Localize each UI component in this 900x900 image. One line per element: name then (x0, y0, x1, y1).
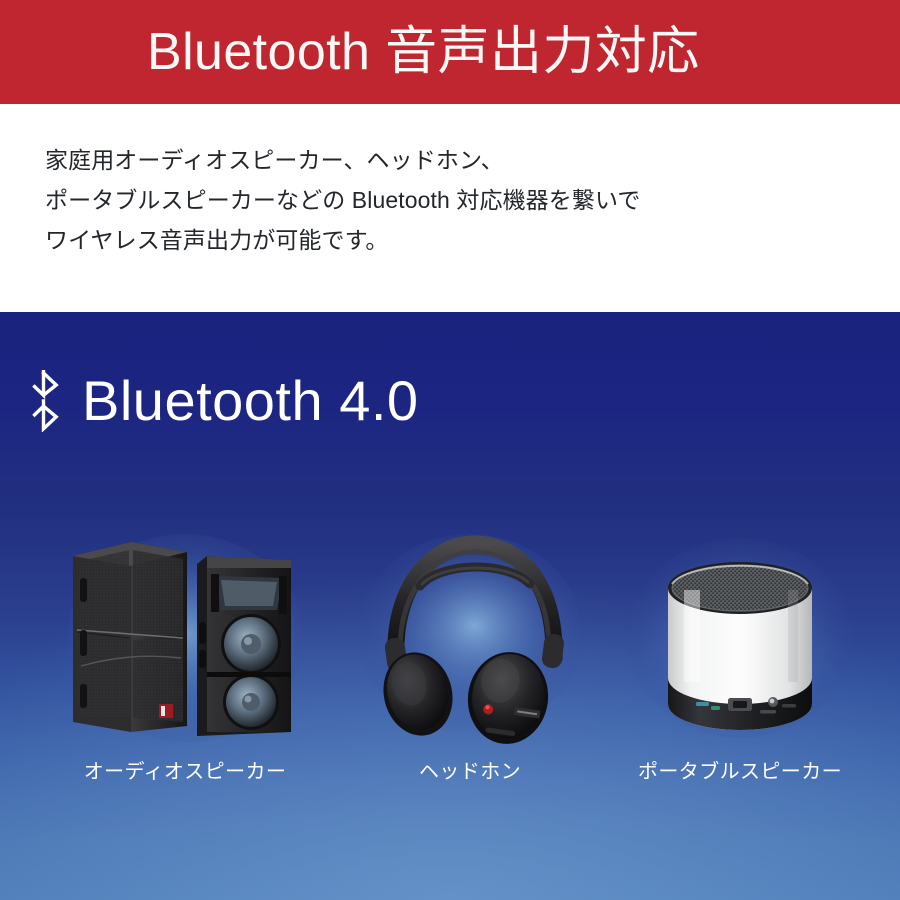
bluetooth-panel: Bluetooth 4.0 (0, 312, 900, 900)
product-label: オーディオスピーカー (55, 758, 315, 786)
header-banner: Bluetooth 音声出力対応 (0, 0, 900, 104)
bluetooth-version-title: Bluetooth 4.0 (82, 370, 419, 432)
product-item-portable-speaker: ポータブルスピーカー (610, 526, 870, 816)
product-feature-page: Bluetooth 音声出力対応 家庭用オーディオスピーカー、ヘッドホン、 ポー… (0, 0, 900, 900)
description-line-3: ワイヤレス音声出力が可能です。 (45, 220, 640, 260)
description-text: 家庭用オーディオスピーカー、ヘッドホン、 ポータブルスピーカーなどの Bluet… (45, 140, 640, 260)
portable-speaker-photo (610, 526, 870, 756)
audio-speaker-photo (55, 526, 315, 756)
product-item-headphones: ヘッドホン (340, 526, 600, 816)
product-list: オーディオスピーカー (0, 526, 900, 816)
product-label: ヘッドホン (340, 758, 600, 786)
bluetooth-brand-row: Bluetooth 4.0 (30, 370, 419, 432)
description-line-2: ポータブルスピーカーなどの Bluetooth 対応機器を繋いで (45, 180, 640, 220)
product-label: ポータブルスピーカー (610, 758, 870, 786)
product-item-audio-speaker: オーディオスピーカー (55, 526, 315, 816)
headphones-photo (340, 526, 600, 756)
bluetooth-icon (30, 370, 64, 432)
description-block: 家庭用オーディオスピーカー、ヘッドホン、 ポータブルスピーカーなどの Bluet… (0, 104, 900, 312)
page-title: Bluetooth 音声出力対応 (147, 16, 700, 88)
description-line-1: 家庭用オーディオスピーカー、ヘッドホン、 (45, 140, 640, 180)
